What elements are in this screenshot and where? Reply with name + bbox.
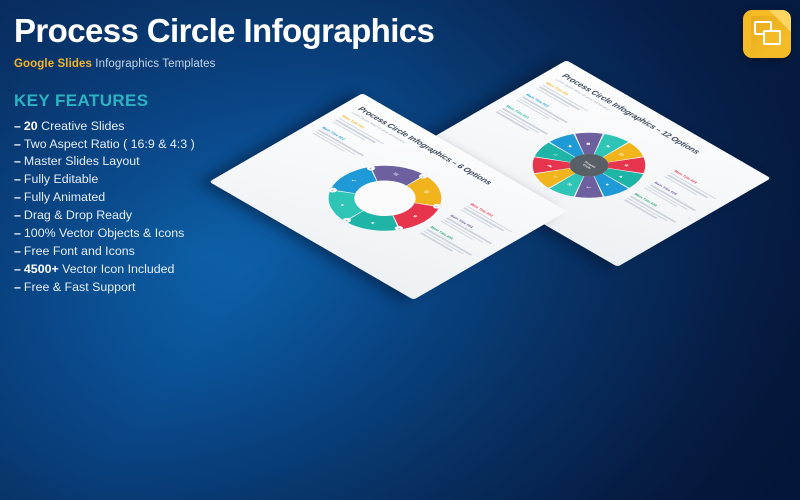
label-heading: Main Title 004 [673, 170, 721, 198]
feature-item: –Two Aspect Ratio ( 16:9 & 4:3 ) [14, 136, 314, 154]
feature-label: Fully Editable [24, 172, 98, 186]
bullet-dash-icon: – [14, 137, 21, 151]
feature-item: –Fully Editable [14, 171, 314, 189]
bullet-dash-icon: – [14, 172, 21, 186]
bullet-dash-icon: – [14, 190, 21, 204]
feature-label: 100% Vector Objects & Icons [24, 226, 184, 240]
feature-item: –Drag & Drop Ready [14, 207, 314, 225]
feature-item: –4500+ Vector Icon Included [14, 261, 314, 279]
feature-emphasis: 4500+ [24, 262, 59, 276]
badge-fold [769, 10, 791, 32]
page-subtitle: Google Slides Infographics Templates [14, 58, 314, 70]
feature-label: Master Slides Layout [24, 154, 140, 168]
feature-item: –Fully Animated [14, 189, 314, 207]
feature-label: Free & Fast Support [24, 280, 136, 294]
bullet-dash-icon: – [14, 208, 21, 222]
page-title: Process Circle Infographics [14, 14, 314, 49]
bullet-dash-icon: – [14, 262, 21, 276]
feature-label: Free Font and Icons [24, 244, 135, 258]
bullet-dash-icon: – [14, 244, 21, 258]
google-slides-icon[interactable] [743, 10, 791, 58]
left-copy-panel: Process Circle Infographics Google Slide… [14, 14, 314, 297]
feature-label: Drag & Drop Ready [24, 208, 132, 222]
bullet-dash-icon: – [14, 119, 21, 133]
feature-label: Creative Slides [41, 119, 124, 133]
key-features-heading: KEY FEATURES [14, 91, 314, 111]
feature-item: –Free & Fast Support [14, 279, 314, 297]
feature-item: –Master Slides Layout [14, 153, 314, 171]
slide-shape-front [763, 30, 781, 45]
feature-item: –20 Creative Slides [14, 118, 314, 136]
bullet-dash-icon: – [14, 154, 21, 168]
feature-label: Fully Animated [24, 190, 105, 204]
key-features-list: –20 Creative Slides–Two Aspect Ratio ( 1… [14, 118, 314, 297]
subtitle-rest: Infographics Templates [95, 58, 215, 70]
feature-label: Vector Icon Included [62, 262, 174, 276]
bullet-dash-icon: – [14, 226, 21, 240]
brand-label: Google Slides [14, 58, 92, 70]
feature-emphasis: 20 [24, 119, 38, 133]
feature-label: Two Aspect Ratio ( 16:9 & 4:3 ) [24, 137, 195, 151]
feature-item: –Free Font and Icons [14, 243, 314, 261]
feature-item: –100% Vector Objects & Icons [14, 225, 314, 243]
label-heading: Main Title 003 [469, 203, 517, 231]
poster-canvas: Process Circle Infographics – 6 OptionsL… [0, 0, 800, 500]
bullet-dash-icon: – [14, 280, 21, 294]
